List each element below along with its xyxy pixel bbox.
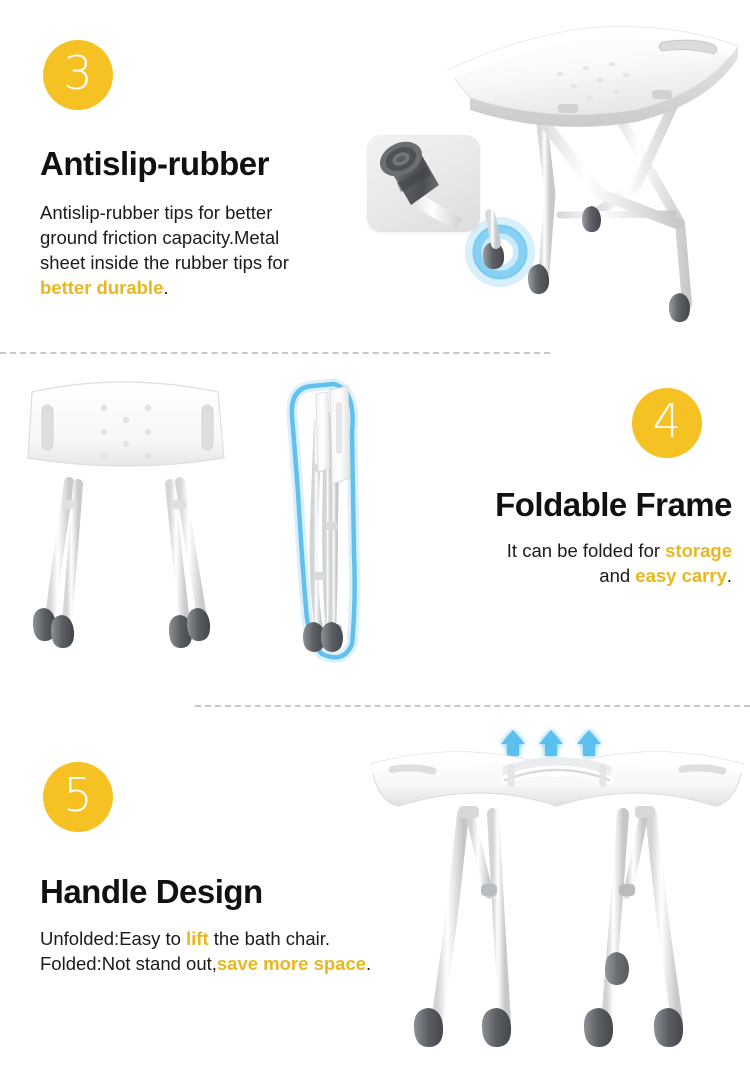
body-line: It can be folded for storage [412, 538, 732, 563]
section-body-4: It can be folded for storage and easy ca… [412, 538, 732, 588]
rubber-tip-illustration [367, 135, 480, 232]
section-body-3: Antislip-rubber tips for better ground f… [40, 200, 350, 300]
section-number-badge-5: 5 [43, 762, 113, 832]
body-line: better durable. [40, 275, 350, 300]
body-line: Antislip-rubber tips for better [40, 200, 350, 225]
arrow-up-icon [539, 730, 563, 756]
rubber-tip-closeup-inset [367, 135, 480, 232]
stool-front-illustration [22, 372, 262, 662]
stool-angled-illustration [440, 18, 750, 338]
section-number-badge-3: 3 [43, 40, 113, 110]
product-image-handle-design [385, 722, 730, 1069]
product-image-antislip-stool [440, 18, 750, 338]
section-title-3: Antislip-rubber [40, 146, 269, 182]
product-image-stool-folded [272, 372, 382, 672]
section-number-badge-4: 4 [632, 388, 702, 458]
section-title-5: Handle Design [40, 874, 263, 910]
stool-folded-illustration [272, 372, 382, 672]
section-number-4: 4 [652, 398, 681, 444]
body-line: ground friction capacity.Metal [40, 225, 350, 250]
arrow-up-icon [577, 730, 601, 756]
section-divider-1 [0, 352, 550, 354]
body-line: and easy carry. [412, 563, 732, 588]
section-number-3: 3 [63, 50, 92, 96]
section-body-5: Unfolded:Easy to lift the bath chair. Fo… [40, 926, 430, 976]
body-line: Folded:Not stand out,save more space. [40, 951, 430, 976]
section-divider-2 [195, 705, 750, 707]
body-line: sheet inside the rubber tips for [40, 250, 350, 275]
section-title-4: Foldable Frame [420, 487, 732, 523]
stool-handle-illustration [385, 722, 730, 1069]
lift-arrows-group [501, 730, 601, 756]
infographic-page: 3 Antislip-rubber Antislip-rubber tips f… [0, 0, 750, 1069]
body-line: Unfolded:Easy to lift the bath chair. [40, 926, 430, 951]
product-image-stool-unfolded [22, 372, 262, 662]
section-number-5: 5 [63, 772, 92, 818]
arrow-up-icon [501, 730, 525, 756]
